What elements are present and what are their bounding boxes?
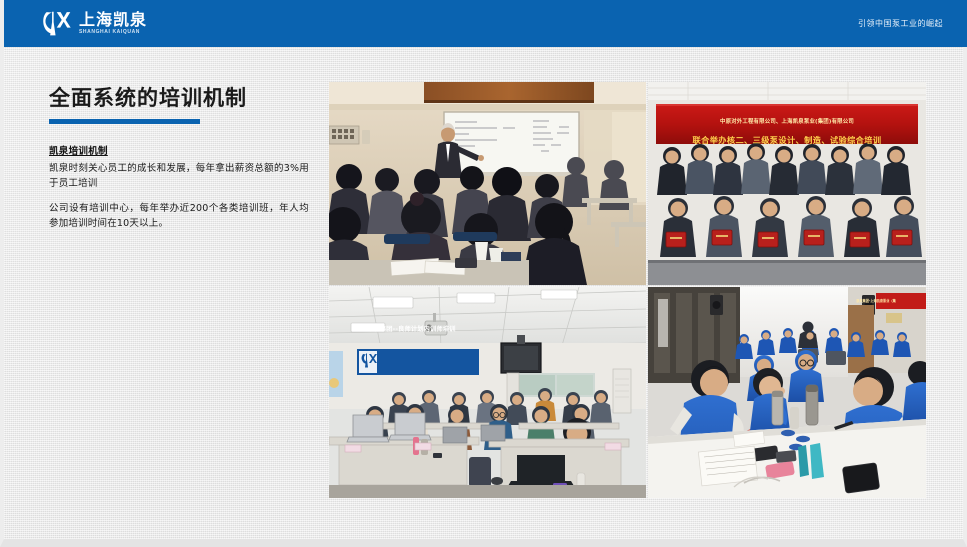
title-underline-rule xyxy=(49,119,200,124)
kaiquan-pump-logo-icon xyxy=(42,9,73,39)
lead-heading-wrap: 凯泉培训机制 xyxy=(49,141,309,161)
logo-text-en: SHANGHAI KAIQUAN xyxy=(79,30,147,35)
photo-workshop-discussion: 凯泉集团-上海凯泉泵业（集 xyxy=(648,287,926,498)
header-slogan: 引领中国泵工业的崛起 xyxy=(858,0,943,47)
photo-classroom-lecture xyxy=(329,82,646,285)
paragraph-1: 凯泉时刻关心员工的成长和发展，每年拿出薪资总额的3%用于员工培训 xyxy=(49,161,309,192)
slide-header-bar: 上海凯泉 SHANGHAI KAIQUAN 引领中国泵工业的崛起 xyxy=(4,0,967,47)
photo-group-banner: 中原对外工程有限公司、上海凯泉泵业(集团)有限公司 联合举办核二、三级泵设计、制… xyxy=(648,82,926,285)
page-title: 全面系统的培训机制 xyxy=(49,82,309,112)
logo-text-cn: 上海凯泉 xyxy=(79,12,147,28)
photo-computer-training: 凯泉集团--良师计划内训师培训 xyxy=(329,287,646,498)
lead-heading: 凯泉培训机制 xyxy=(49,143,108,157)
presentation-slide: 上海凯泉 SHANGHAI KAIQUAN 引领中国泵工业的崛起 全面系统的培训… xyxy=(0,0,967,547)
paragraph-2: 公司设有培训中心，每年举办近200个各类培训班，年人均参加培训时间在10天以上。 xyxy=(49,201,309,232)
company-logo: 上海凯泉 SHANGHAI KAIQUAN xyxy=(42,8,147,39)
logo-wordmark: 上海凯泉 SHANGHAI KAIQUAN xyxy=(79,12,147,35)
photo-grid: 中原对外工程有限公司、上海凯泉泵业(集团)有限公司 联合举办核二、三级泵设计、制… xyxy=(329,82,926,502)
text-column: 全面系统的培训机制 凯泉培训机制 凯泉时刻关心员工的成长和发展，每年拿出薪资总额… xyxy=(49,82,309,241)
